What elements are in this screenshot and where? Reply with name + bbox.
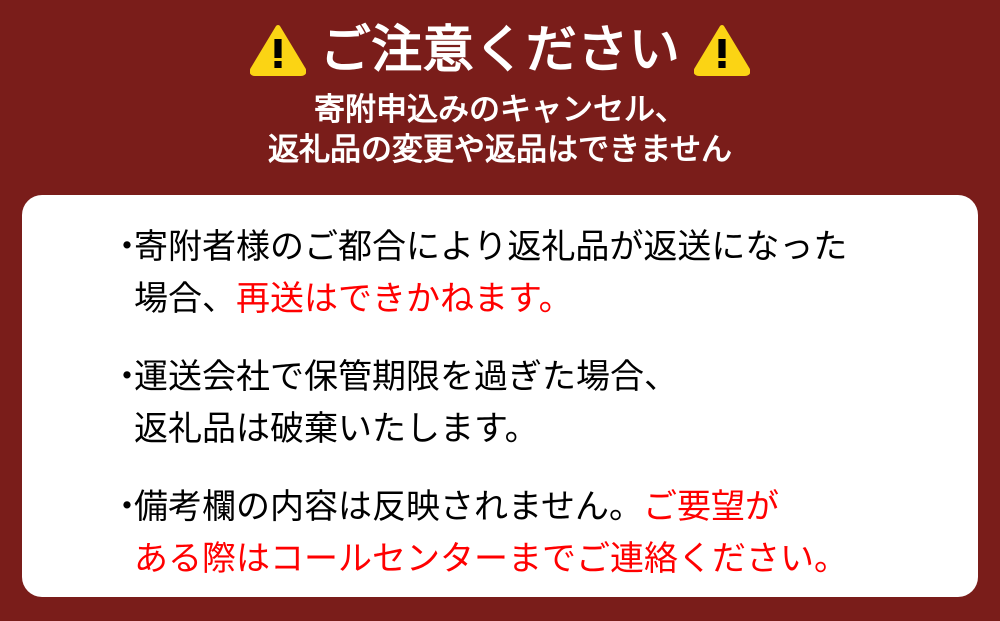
warning-triangle-icon <box>250 24 306 76</box>
notice-text-black: 返礼品は破棄いたします。 <box>134 410 539 448</box>
notice-banner: ご注意ください 寄附申込みのキャンセル、 返礼品の変更や返品はできません ・ 寄… <box>0 0 1000 621</box>
notice-text-black: 運送会社で保管期限を過ぎた場合、 <box>134 358 678 396</box>
notice-line: 備考欄の内容は反映されません。ご要望が <box>134 481 948 533</box>
notice-text-alert: ご要望が <box>643 488 779 526</box>
notice-item: ・ 寄附者様のご都合により返礼品が返送になった 場合、再送はできかねます。 <box>134 221 948 325</box>
subtitle-line-1: 寄附申込みのキャンセル、 <box>0 90 1000 130</box>
notice-text-black: 場合、 <box>134 280 236 318</box>
notice-text-black: 寄附者様のご都合により返礼品が返送になった <box>134 228 847 266</box>
banner-subtitle: 寄附申込みのキャンセル、 返礼品の変更や返品はできません <box>0 90 1000 170</box>
notice-text-alert: 再送はできかねます。 <box>236 280 573 318</box>
notice-line: 運送会社で保管期限を過ぎた場合、 <box>134 351 948 403</box>
banner-header: ご注意ください 寄附申込みのキャンセル、 返礼品の変更や返品はできません <box>0 0 1000 195</box>
notice-text-black: 備考欄の内容は反映されません。 <box>134 488 643 526</box>
banner-title-row: ご注意ください <box>0 0 1000 84</box>
subtitle-line-2: 返礼品の変更や返品はできません <box>0 130 1000 170</box>
notice-item: ・ 備考欄の内容は反映されません。ご要望が ある際はコールセンターまでご連絡くだ… <box>134 481 948 585</box>
warning-triangle-icon <box>694 24 750 76</box>
bullet-marker: ・ <box>110 481 144 533</box>
notice-line: 返礼品は破棄いたします。 <box>134 403 948 455</box>
notice-line: 寄附者様のご都合により返礼品が返送になった <box>134 221 948 273</box>
notice-card: ・ 寄附者様のご都合により返礼品が返送になった 場合、再送はできかねます。 ・ … <box>22 195 978 597</box>
notice-line: ある際はコールセンターまでご連絡ください。 <box>134 533 948 585</box>
notice-item: ・ 運送会社で保管期限を過ぎた場合、 返礼品は破棄いたします。 <box>134 351 948 455</box>
bullet-marker: ・ <box>110 221 144 273</box>
notice-line: 場合、再送はできかねます。 <box>134 273 948 325</box>
bullet-marker: ・ <box>110 351 144 403</box>
page-title: ご注意ください <box>320 21 681 79</box>
notice-text-alert: ある際はコールセンターまでご連絡ください。 <box>134 540 848 578</box>
